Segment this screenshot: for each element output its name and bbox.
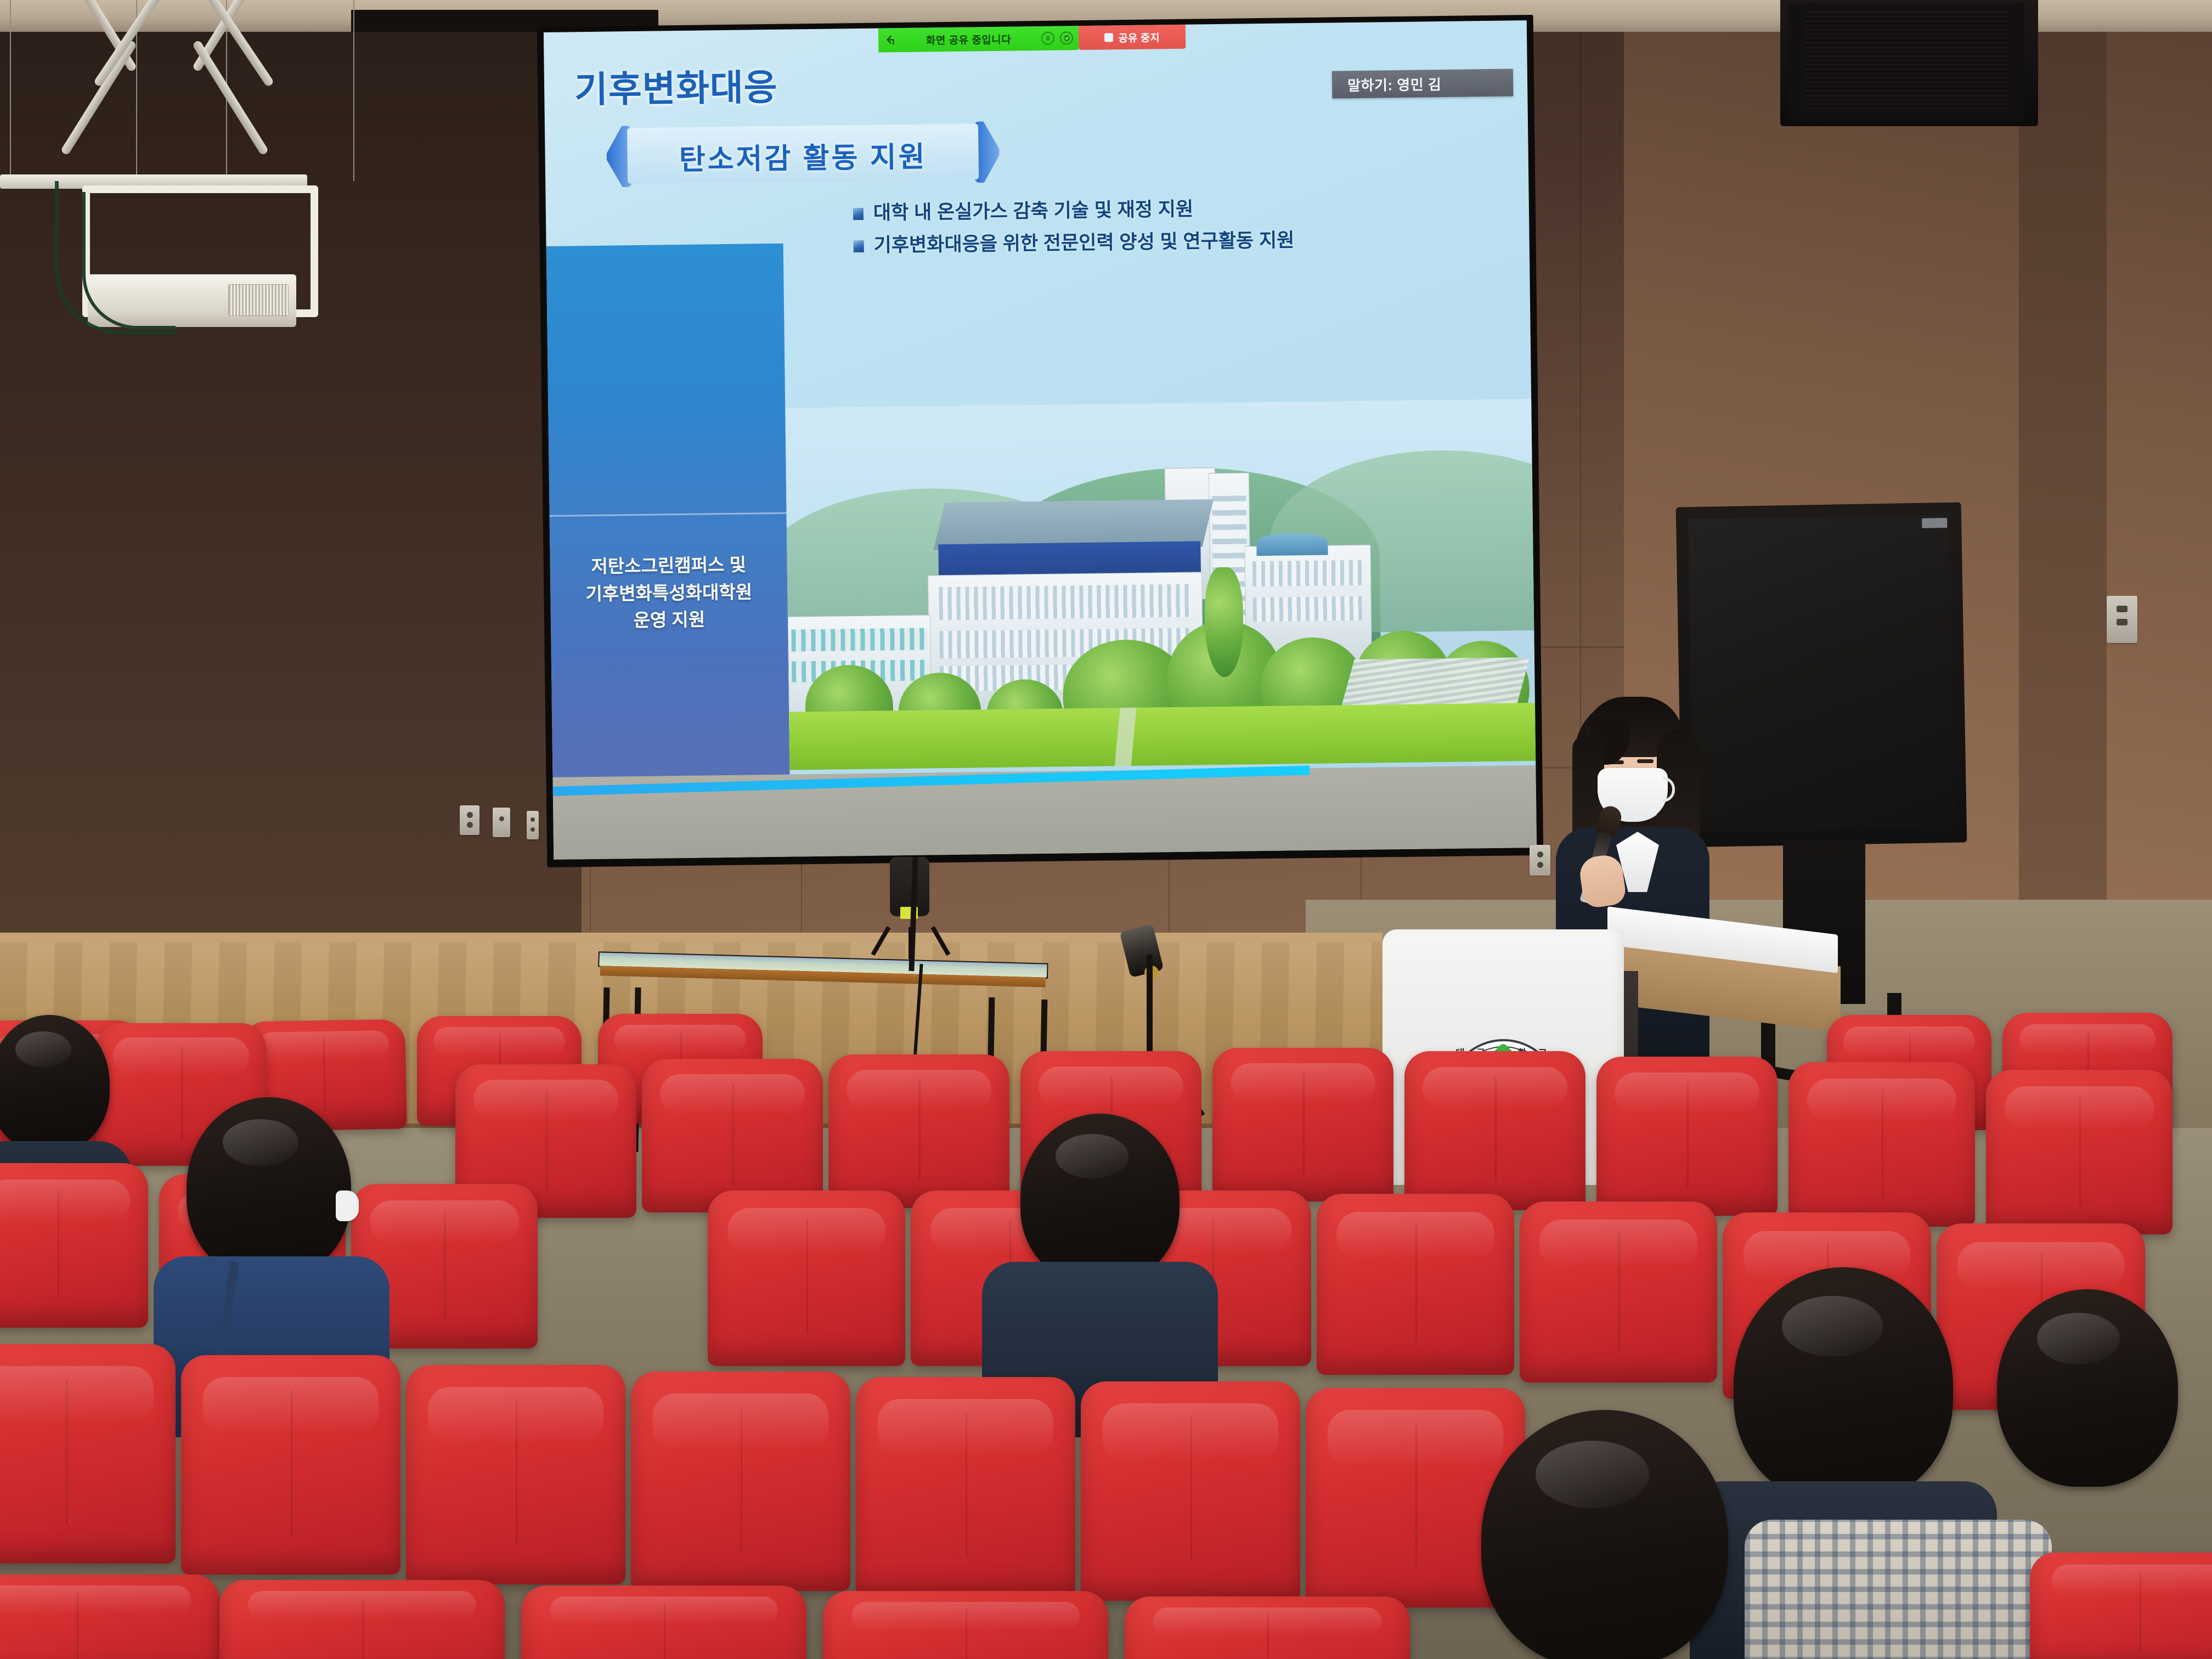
projector-cable-secondary: [82, 192, 176, 329]
bullet-text: 기후변화대응을 위한 전문인력 양성 및 연구활동 지원: [873, 229, 1294, 258]
stop-square-icon: [1104, 33, 1113, 42]
seat[interactable]: [521, 1585, 806, 1659]
seat[interactable]: [1520, 1201, 1717, 1383]
shield-check-icon[interactable]: [1060, 31, 1073, 44]
wall-jack-plate: [527, 811, 539, 839]
ribbon-heading: 탄소저감 활동 지원: [679, 133, 927, 178]
stop-sharing-button[interactable]: 공유 중지: [1079, 25, 1186, 50]
audience-member-plaid-shirt: [1745, 1520, 2052, 1659]
auditorium-scene: 화면 공유 중입니다 공유 중지: [0, 0, 2212, 1659]
panel-caption-line: 기후변화특성화대학원: [561, 578, 777, 607]
seat[interactable]: [1125, 1596, 1410, 1659]
seat[interactable]: [631, 1372, 850, 1591]
seat[interactable]: [1212, 1048, 1393, 1201]
audience-member-head: [1734, 1267, 1953, 1503]
share-status-region: 화면 공유 중입니다: [878, 26, 1079, 52]
campus-photo: [785, 399, 1536, 770]
right-wall-strip: [2019, 32, 2107, 932]
flat-panel-monitor: [1676, 503, 1967, 848]
seat[interactable]: [219, 1580, 505, 1659]
list-item: 기후변화대응을 위한 전문인력 양성 및 연구활동 지원: [853, 226, 1500, 258]
seat[interactable]: [823, 1591, 1108, 1659]
speaker-grille-icon: [1805, 11, 2008, 110]
photo-lawn: [789, 703, 1536, 770]
microphone-tripod-legs: [884, 927, 937, 958]
projector-rig: [0, 0, 373, 362]
face-mask: [336, 1190, 359, 1221]
bullet-square-icon: [853, 208, 864, 220]
active-speaker-tag: 말하기: 영민 김: [1332, 69, 1514, 98]
slide-title: 기후변화대응: [574, 58, 777, 114]
monitor-brand-badge: [1922, 518, 1947, 528]
seat[interactable]: [2030, 1553, 2212, 1659]
seat[interactable]: [1596, 1057, 1778, 1216]
seat[interactable]: [1986, 1070, 2172, 1234]
stop-sharing-label: 공유 중지: [1118, 30, 1160, 45]
seat[interactable]: [181, 1355, 400, 1575]
panel-caption-line: 운영 지원: [562, 605, 777, 635]
audience-member-head: [1481, 1410, 1728, 1659]
slide-left-panel: 저탄소그린캠퍼스 및 기후변화특성화대학원 운영 지원: [546, 244, 790, 803]
wall-outlet-plate: [1530, 845, 1550, 876]
share-status-text: 화면 공유 중입니다: [901, 31, 1036, 48]
slide-bullet-list: 대학 내 온실가스 감축 기술 및 재정 지원 기후변화대응을 위한 전문인력 …: [853, 194, 1501, 267]
pause-circle-icon[interactable]: [1041, 32, 1054, 45]
seat[interactable]: [0, 1575, 219, 1659]
panel-caption-line: 저탄소그린캠퍼스 및: [561, 551, 776, 580]
projector-vent-icon: [228, 284, 289, 316]
seat[interactable]: [406, 1365, 625, 1584]
monitor-screen: [1688, 515, 1955, 833]
seat[interactable]: [1081, 1381, 1300, 1601]
seat[interactable]: [1317, 1194, 1514, 1375]
audience-member-head: [1997, 1289, 2178, 1487]
list-item: 대학 내 온실가스 감축 기술 및 재정 지원: [853, 194, 1500, 225]
panel-divider: [550, 512, 787, 517]
bullet-text: 대학 내 온실가스 감축 기술 및 재정 지원: [873, 198, 1194, 225]
wall-outlet-plate: [460, 805, 479, 835]
audience-member-head: [187, 1097, 351, 1278]
seat[interactable]: [1788, 1062, 1975, 1227]
bullet-square-icon: [854, 240, 864, 252]
back-arrow-icon[interactable]: [884, 34, 896, 46]
seat[interactable]: [1404, 1051, 1585, 1210]
seat[interactable]: [0, 1344, 176, 1564]
audience-member-head: [1020, 1114, 1180, 1284]
panel-caption: 저탄소그린캠퍼스 및 기후변화특성화대학원 운영 지원: [550, 551, 788, 635]
seat[interactable]: [642, 1059, 823, 1212]
slide-surface: 화면 공유 중입니다 공유 중지: [544, 20, 1537, 860]
wall-outlet-plate: [493, 808, 510, 837]
seat[interactable]: [856, 1377, 1075, 1596]
screen-share-toolbar[interactable]: 화면 공유 중입니다 공유 중지: [878, 25, 1186, 53]
wall-control-plate: [2107, 596, 2137, 643]
projection-screen: 화면 공유 중입니다 공유 중지: [544, 20, 1537, 860]
audience-seating: [0, 1026, 2212, 1659]
seat[interactable]: [708, 1190, 905, 1366]
slide-section-ribbon: 탄소저감 활동 지원: [605, 120, 1001, 191]
seat[interactable]: [0, 1163, 148, 1328]
seat[interactable]: [828, 1054, 1009, 1208]
